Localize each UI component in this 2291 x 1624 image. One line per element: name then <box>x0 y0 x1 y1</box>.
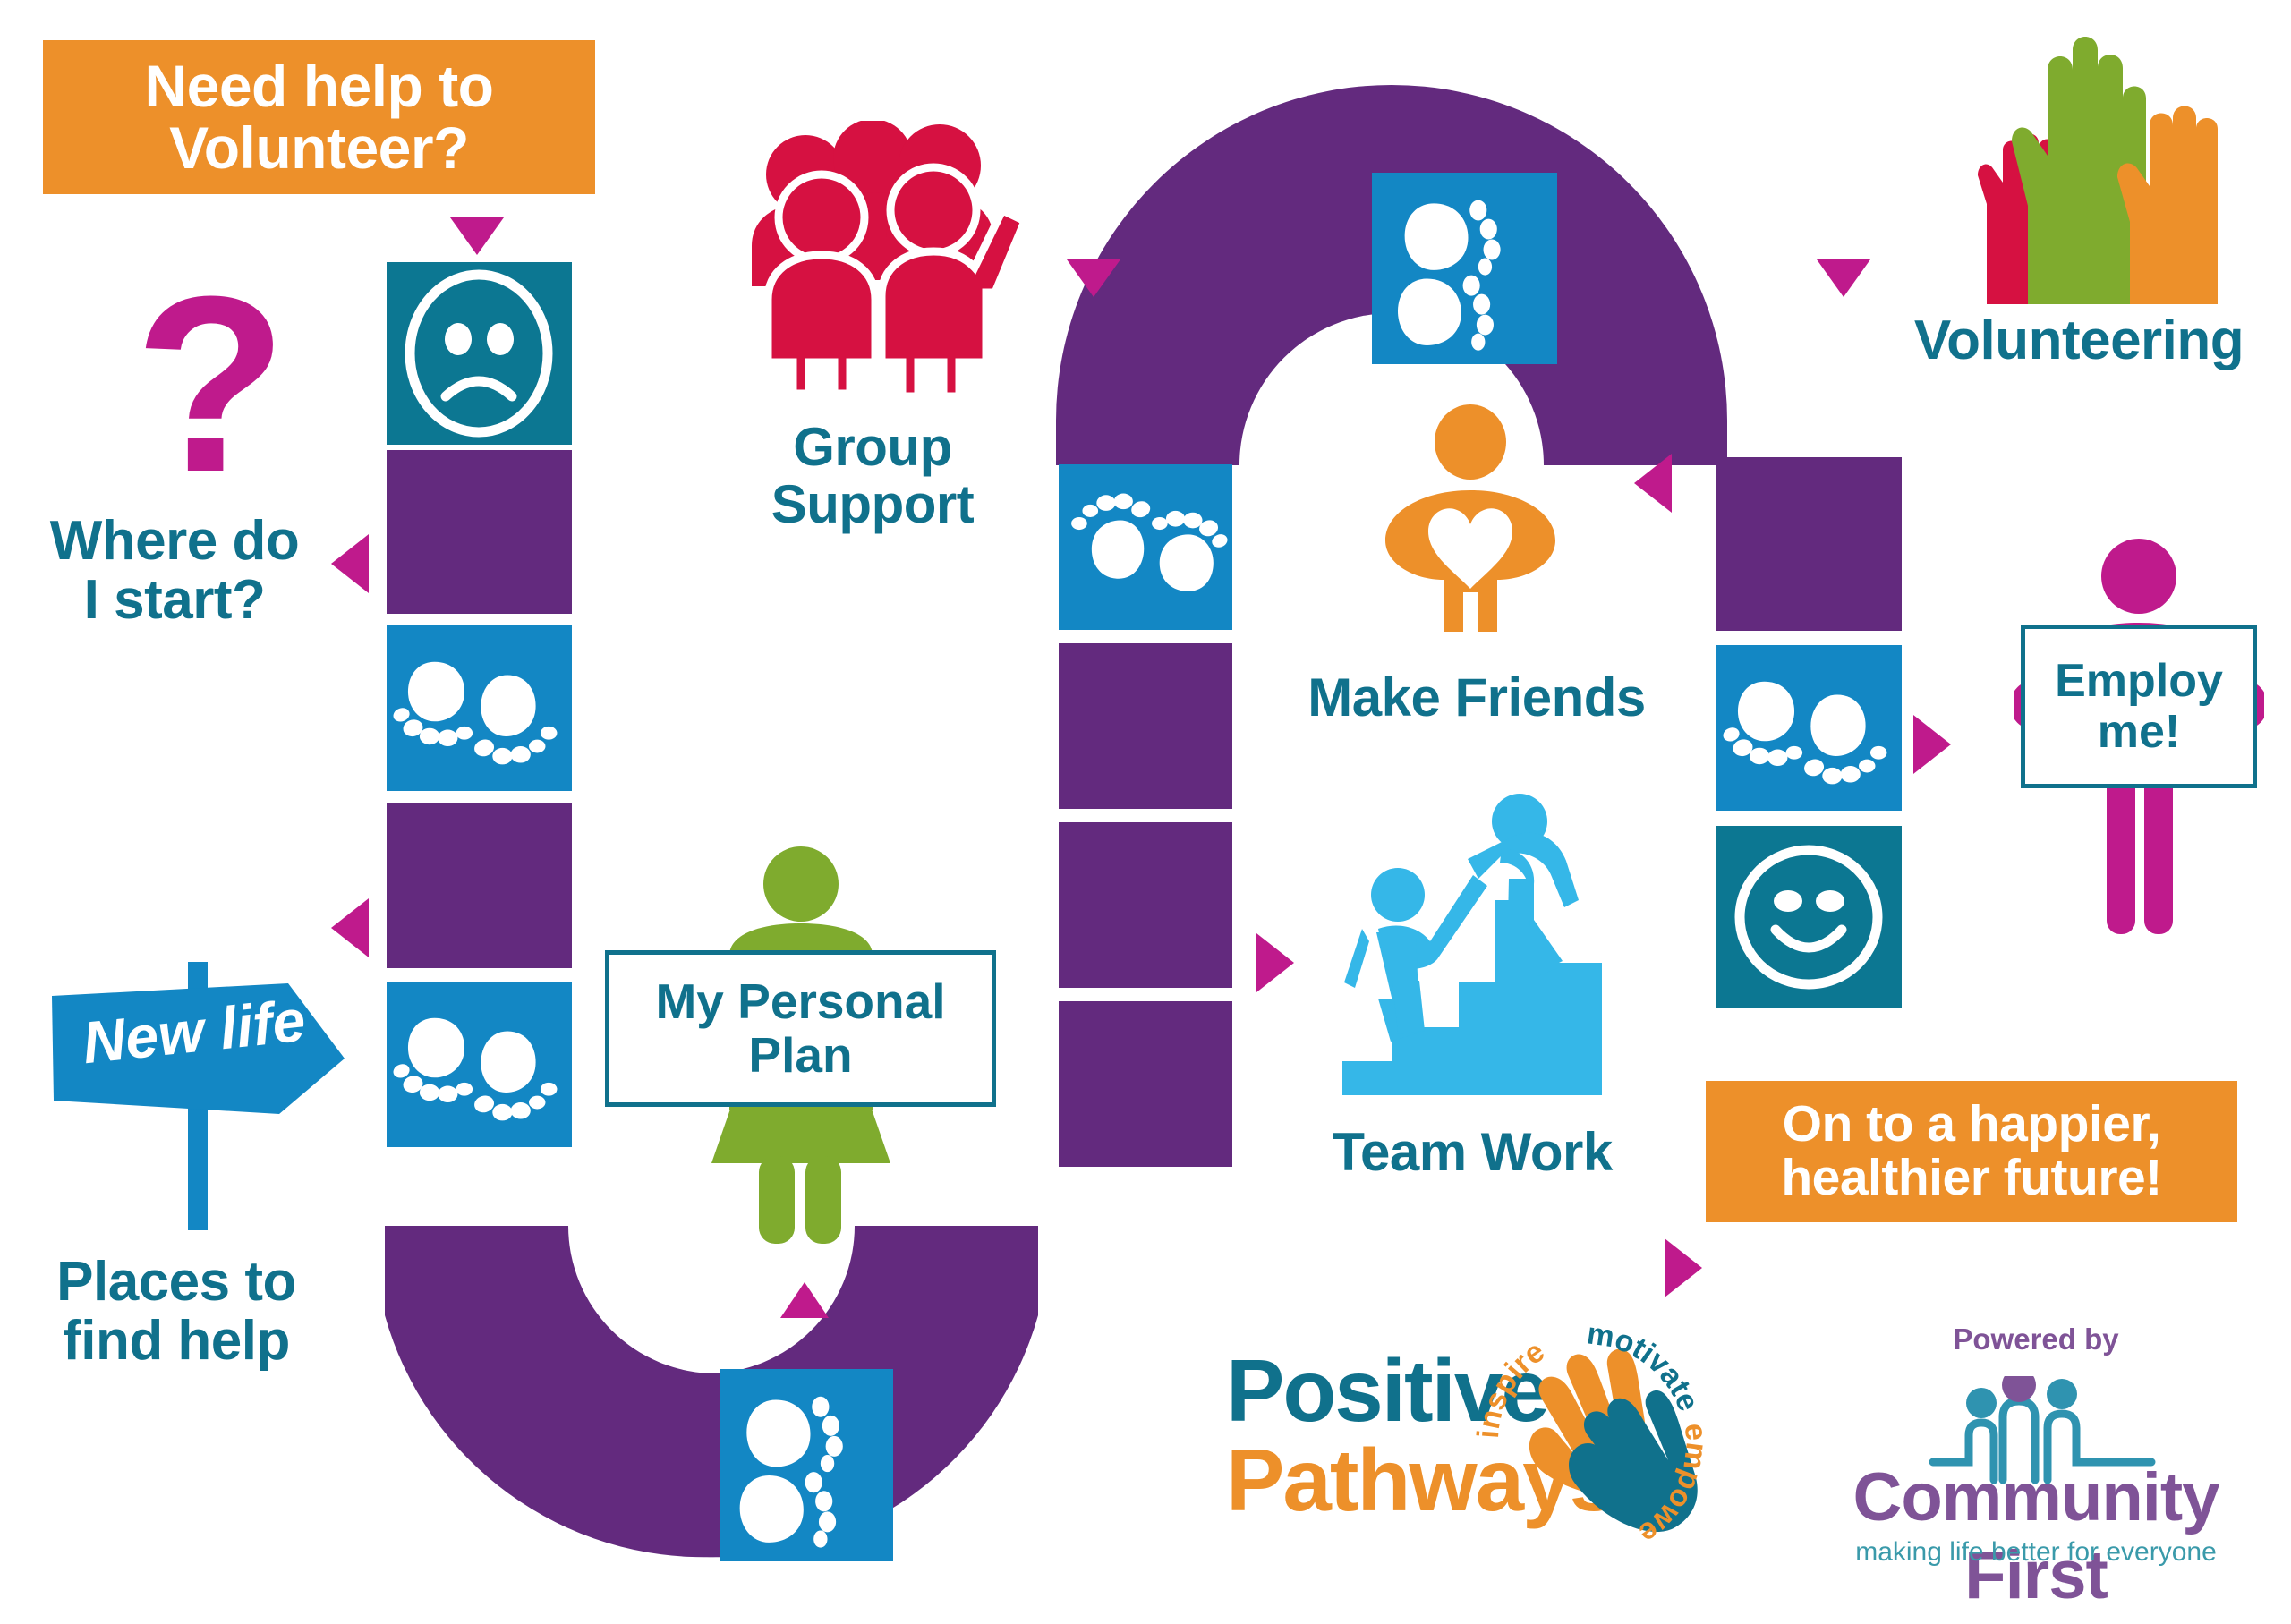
tile-purple-right-1[interactable] <box>1716 457 1902 631</box>
powered-by-label: Powered by <box>1826 1322 2246 1356</box>
arrow-up-personal-plan <box>780 1282 829 1318</box>
infographic-canvas: Need help to Volunteer? ? Where do I sta… <box>0 0 2291 1624</box>
arrow-right-happier-future <box>1665 1238 1702 1297</box>
caption-group-support: Group Support <box>698 419 1047 532</box>
tagword-empower: empower <box>1450 1306 1714 1551</box>
banner-line-1: On to a happier, <box>1781 1098 2161 1152</box>
banner-happier-healthier-future: On to a happier, healthier future! <box>1706 1081 2237 1222</box>
community-first-tagline: making life better for everyone <box>1826 1537 2246 1568</box>
question-mark-icon: ? <box>134 259 287 510</box>
tile-footprints-top-arch[interactable] <box>1372 173 1557 364</box>
caption-volunteering: Volunteering <box>1886 311 2271 370</box>
arrow-down-to-sad-face <box>450 217 504 255</box>
caption-team-work: Team Work <box>1316 1124 1629 1181</box>
logo-community-first: Powered by Community First making life b… <box>1826 1322 2246 1591</box>
caption-places-to-find-help: Places to find help <box>29 1253 324 1370</box>
arrow-down-volunteering <box>1817 259 1870 297</box>
signpost-arrow-icon <box>36 944 376 1239</box>
banner-line-1: Need help to <box>144 55 493 117</box>
banner-line-2: healthier future! <box>1781 1152 2161 1205</box>
tile-footprints-middle[interactable] <box>1059 464 1232 630</box>
signpost-new-life[interactable]: New life <box>36 944 376 1239</box>
tile-footprints-left-1[interactable] <box>387 625 572 791</box>
tile-purple-middle-1[interactable] <box>1059 643 1232 809</box>
happy-face-icon <box>1716 826 1902 1008</box>
group-of-people-icon <box>716 121 1029 416</box>
arrow-left-where-start <box>331 534 369 593</box>
tagword-motivate: motivate <box>1585 1316 1706 1416</box>
community-first-name: Community First <box>1826 1458 2246 1614</box>
tile-footprints-bottom[interactable] <box>720 1369 893 1561</box>
banner-line-2: Volunteer? <box>144 117 493 179</box>
three-raised-hands-icon <box>1958 36 2236 309</box>
make-friends-illustration <box>1385 404 1555 664</box>
helping-hand-stairs-icon <box>1342 793 1602 1108</box>
tile-footprints-left-2[interactable] <box>387 982 572 1147</box>
sad-face-icon <box>387 262 572 445</box>
footprints-icon <box>387 982 572 1147</box>
person-holding-heart-icon <box>1385 404 1555 664</box>
caption-make-friends: Make Friends <box>1307 669 1647 727</box>
sign-my-personal-plan[interactable]: My Personal Plan <box>605 950 996 1107</box>
footprints-icon <box>1716 645 1902 811</box>
tagword-inspire: inspire <box>1471 1334 1551 1440</box>
tile-purple-middle-2[interactable] <box>1059 822 1232 988</box>
tile-footprints-right[interactable] <box>1716 645 1902 811</box>
arrow-right-team-work <box>1256 933 1294 992</box>
team-work-illustration <box>1342 793 1602 1108</box>
tile-purple-left-1[interactable] <box>387 450 572 614</box>
logo-positive-pathways: Positive Pathways inspire motiv <box>1226 1315 1763 1584</box>
bottom-left-curve <box>385 1226 716 1557</box>
tile-purple-left-2[interactable] <box>387 803 572 968</box>
footprints-icon <box>720 1369 893 1561</box>
caption-where-do-i-start: Where do I start? <box>27 512 322 629</box>
arrow-down-group-support <box>1067 259 1120 297</box>
banner-need-help-to-volunteer: Need help to Volunteer? <box>43 40 595 194</box>
volunteering-illustration <box>1958 36 2236 309</box>
tile-sad-face[interactable] <box>387 262 572 445</box>
tile-purple-middle-3[interactable] <box>1059 1001 1232 1167</box>
logo-tagwords: inspire motivate empower <box>1450 1306 1754 1584</box>
footprints-icon <box>1059 464 1232 630</box>
arrow-left-make-friends <box>1634 454 1672 513</box>
arrow-right-employ-me <box>1913 715 1951 774</box>
sign-employ-me[interactable]: Employ me! <box>2021 625 2257 788</box>
footprints-icon <box>1372 173 1557 364</box>
footprints-icon <box>387 625 572 791</box>
tile-happy-face[interactable] <box>1716 826 1902 1008</box>
group-support-illustration <box>716 121 1029 416</box>
